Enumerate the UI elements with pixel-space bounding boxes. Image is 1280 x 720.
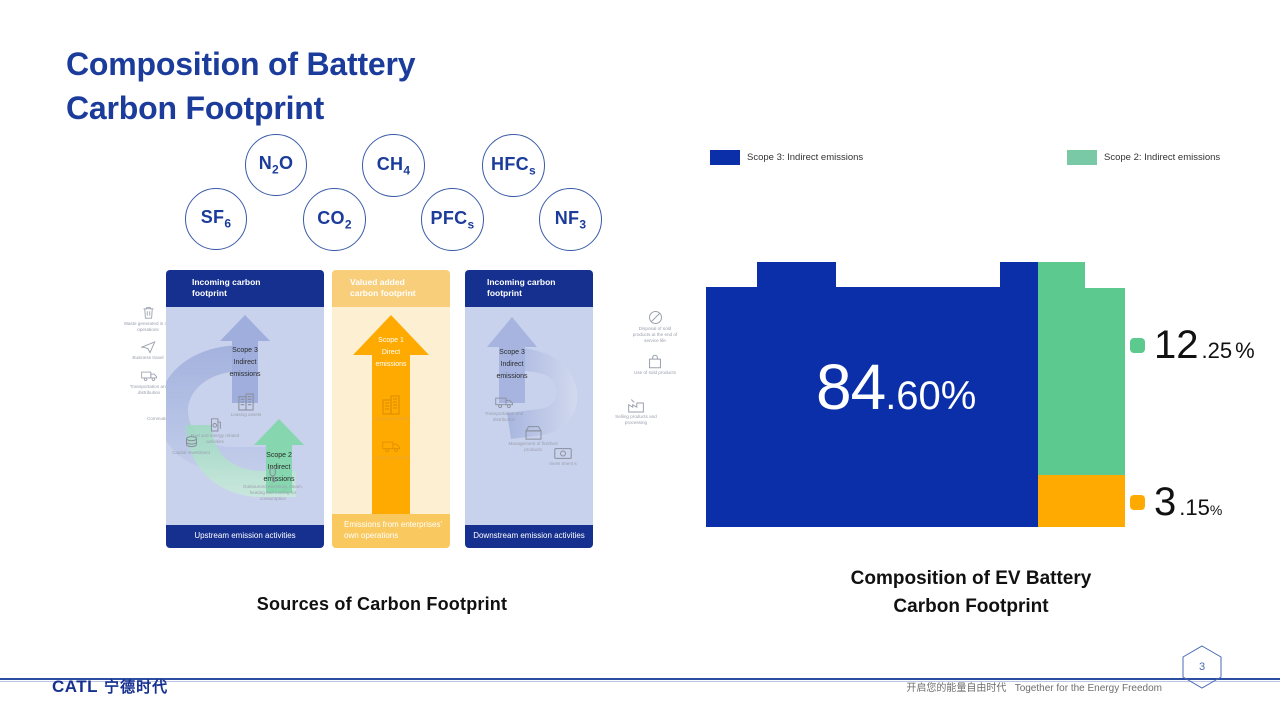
- coins-icon-group: Capital investment: [166, 435, 220, 456]
- gas-label: HFCs: [491, 154, 536, 178]
- page-title: Composition of Battery Carbon Footprint: [66, 42, 586, 130]
- building-icon-group: Leasing assets: [222, 393, 270, 418]
- company-truck-icon: [382, 439, 401, 454]
- legend-swatch-scope3: [710, 150, 740, 165]
- gas-bubble-pfcs: PFCs: [421, 188, 484, 251]
- bag-icon: [648, 354, 662, 369]
- panel-downstream: Incoming carbon footprint Scope 3 Indire…: [465, 270, 593, 548]
- scope1-value-int: 3: [1154, 482, 1176, 522]
- scope1-value-pct: %: [1210, 502, 1222, 518]
- legend-item-scope3[interactable]: Scope 3: Indirect emissions: [710, 150, 863, 165]
- chart-caption-line2: Carbon Footprint: [756, 593, 1186, 621]
- gas-label: N2O: [259, 153, 294, 177]
- money-icon-group: Inves tment s: [543, 447, 583, 467]
- bar-scope2[interactable]: [1038, 262, 1125, 475]
- page-title-line1: Composition of Battery: [66, 42, 586, 86]
- truck-icon-group: Transportation and distribution: [479, 395, 529, 423]
- page-title-line2: Carbon Footprint: [66, 86, 586, 130]
- gas-bubble-sf6: SF6: [185, 188, 247, 250]
- icon-caption: Selling products and processing: [608, 414, 664, 426]
- icon-caption: Use of sold products: [630, 370, 680, 376]
- downstream-icon-cluster: Disposal of sold products at the end of …: [590, 310, 680, 440]
- icon-caption: Company vehicles: [363, 455, 419, 461]
- scope2-value-label: 12 .25 %: [1130, 325, 1255, 365]
- fuel-icon: [209, 417, 222, 432]
- scope-line3: emissions: [375, 359, 406, 371]
- gas-bubble-nf3: NF3: [539, 188, 602, 251]
- scope3-arrow-label: Scope 3 Indirect emissions: [229, 345, 260, 381]
- panel-header-line2: carbon footprint: [350, 288, 450, 299]
- scope-line3: emissions: [496, 371, 527, 383]
- chart-caption-line1: Composition of EV Battery: [756, 565, 1186, 593]
- scope-name: Scope 2: [263, 450, 294, 462]
- panel-header: Valued added carbon footprint: [332, 270, 450, 307]
- legend-label: Scope 2: Indirect emissions: [1104, 152, 1220, 163]
- scope1-value-dec: .15: [1179, 495, 1210, 521]
- scope-line2: Indirect: [496, 359, 527, 371]
- scope2-value-int: 12: [1154, 325, 1199, 365]
- scope-line2: Direct: [375, 347, 406, 359]
- legend-swatch-scope2: [1067, 150, 1097, 165]
- gas-label: CO2: [317, 208, 352, 232]
- gas-label: CH4: [377, 154, 411, 178]
- factory-building-icon: [382, 395, 400, 415]
- truck-icon: [495, 395, 514, 410]
- legend-label: Scope 3: Indirect emissions: [747, 152, 863, 163]
- panel-upstream: Incoming carbon footprint Scope 3 Indire…: [166, 270, 324, 548]
- diagram-caption: Sources of Carbon Footprint: [185, 594, 579, 615]
- icon-caption: Capital investment: [166, 450, 220, 456]
- scope-name: Scope 3: [496, 347, 527, 359]
- money-icon: [554, 447, 572, 460]
- scope1-marker: [1130, 495, 1145, 510]
- plug-icon: [267, 467, 280, 483]
- plug-icon-group: Outsourced electricity, steam, heating a…: [238, 467, 308, 503]
- scope1-arrow-label: Scope 1 Direct emissions: [375, 335, 406, 371]
- scope2-value-dec: .25: [1202, 338, 1233, 364]
- chart-caption: Composition of EV Battery Carbon Footpri…: [756, 565, 1186, 620]
- panel-footer: Upstream emission activities: [166, 525, 324, 548]
- scope3-arrow-label: Scope 3 Indirect emissions: [496, 347, 527, 383]
- footer-tagline: 开启您的能量自由时代 Together for the Energy Freed…: [906, 679, 1162, 694]
- panel-header-line1: Incoming carbon: [192, 277, 324, 288]
- gas-bubble-n2o: N2O: [245, 134, 307, 196]
- scope2-value-pct: %: [1235, 338, 1255, 364]
- panel-own-operations: Valued added carbon footprint Scope 1 Di…: [332, 270, 450, 548]
- coins-icon: [184, 435, 199, 449]
- panel-header-line2: footprint: [192, 288, 324, 299]
- brand-name-en: CATL: [52, 677, 98, 697]
- panel-header-line2: footprint: [487, 288, 593, 299]
- factory-icon: [627, 398, 645, 413]
- page-number: 3: [1182, 645, 1222, 689]
- page-number-badge: 3: [1182, 645, 1222, 689]
- icon-caption: Company facilities: [363, 416, 419, 422]
- panel-body: Scope 3 Indirect emissions Scope 2 Indir…: [166, 307, 324, 521]
- trash-icon: [141, 305, 156, 320]
- factory-building-icon-group: Company facilities: [363, 395, 419, 422]
- company-truck-icon-group: Company vehicles: [363, 439, 419, 461]
- icon-caption: Inves tment s: [543, 461, 583, 467]
- truck-icon: [141, 369, 158, 383]
- ev-battery-footprint-chart: 84.60%: [706, 250, 1136, 540]
- catl-logo: CATL 宁德时代: [52, 676, 168, 697]
- tagline-cn: 开启您的能量自由时代: [906, 683, 1006, 694]
- scope3-value-int: 84: [816, 351, 885, 423]
- scope-name: Scope 1: [375, 335, 406, 347]
- no-entry-icon-group: Disposal of sold products at the end of …: [630, 310, 680, 345]
- brand-name-cn: 宁德时代: [104, 676, 168, 697]
- factory-icon-group: Selling products and processing: [608, 398, 664, 426]
- panel-header-line1: Incoming carbon: [487, 277, 593, 288]
- scope3-value-label: 84.60%: [816, 350, 976, 424]
- scope3-value-dec: .60: [885, 374, 941, 418]
- panel-header: Incoming carbon footprint: [465, 270, 593, 307]
- scope-name: Scope 3: [229, 345, 260, 357]
- panel-body: Scope 1 Direct emissions Company facilit…: [332, 307, 450, 521]
- airplane-icon: [140, 338, 156, 354]
- scope-line2: Indirect: [229, 357, 260, 369]
- tagline-en: Together for the Energy Freedom: [1015, 683, 1162, 694]
- icon-caption: Transportation and distribution: [479, 411, 529, 423]
- store-icon: [524, 425, 543, 440]
- gas-bubble-hfcs: HFCs: [482, 134, 545, 197]
- bag-icon-group: Use of sold products: [630, 354, 680, 376]
- panel-body: Scope 3 Indirect emissions Transportatio…: [465, 307, 593, 521]
- panel-footer: Emissions from enterprises' own operatio…: [332, 514, 450, 548]
- icon-caption: Disposal of sold products at the end of …: [630, 326, 680, 345]
- panel-footer: Downstream emission activities: [465, 525, 593, 548]
- panel-header: Incoming carbon footprint: [166, 270, 324, 307]
- gas-label: NF3: [555, 208, 587, 232]
- scope2-marker: [1130, 338, 1145, 353]
- legend-item-scope2[interactable]: Scope 2: Indirect emissions: [1067, 150, 1220, 165]
- gas-label: SF6: [201, 207, 232, 231]
- no-entry-icon: [648, 310, 663, 325]
- scope3-value-pct: %: [941, 374, 977, 418]
- gas-label: PFCs: [431, 208, 475, 232]
- panel-header-line1: Valued added: [350, 277, 450, 288]
- scope-line3: emissions: [229, 369, 260, 381]
- chart-legend: Scope 3: Indirect emissions Scope 2: Ind…: [710, 150, 1230, 166]
- scope1-value-label: 3 .15 %: [1130, 482, 1222, 522]
- bar-scope1[interactable]: [1038, 475, 1125, 527]
- gas-bubble-ch4: CH4: [362, 134, 425, 197]
- icon-caption: Outsourced electricity, steam, heating a…: [238, 484, 308, 503]
- gas-bubble-co2: CO2: [303, 188, 366, 251]
- building-icon: [238, 393, 254, 411]
